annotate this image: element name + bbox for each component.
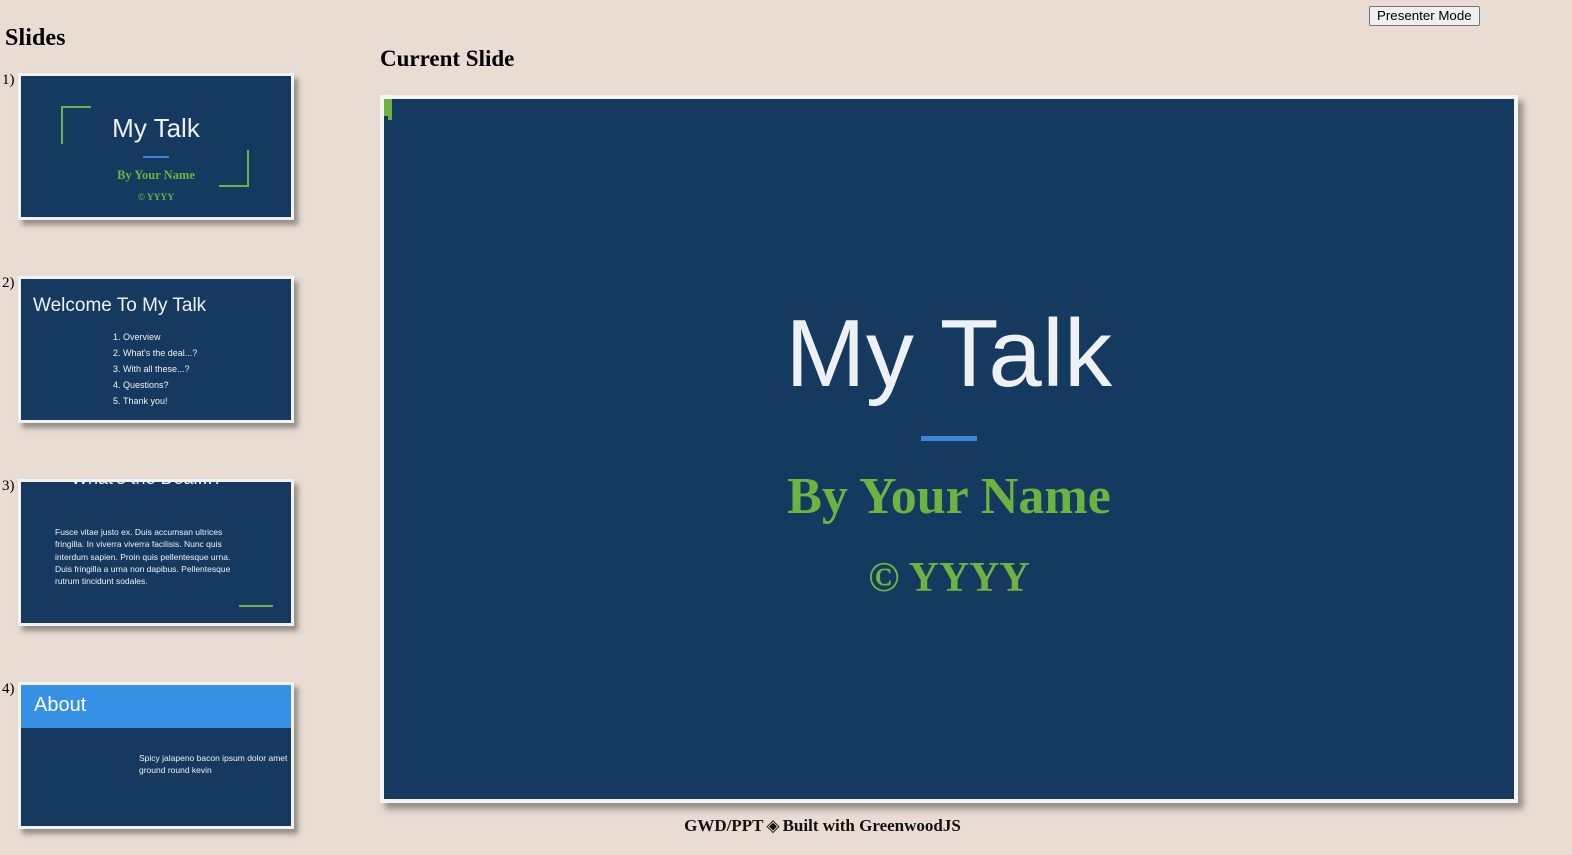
- current-slide-heading: Current Slide: [380, 46, 514, 72]
- slide-thumbnail-index: 4): [2, 681, 15, 698]
- slide-preview-agenda: Welcome To My Talk Overview What's the d…: [21, 279, 291, 420]
- slide-thumbnail-index: 3): [2, 478, 15, 495]
- agenda-item: Questions?: [123, 380, 197, 390]
- agenda-item: Thank you!: [123, 396, 197, 406]
- slide-thumbnail-frame[interactable]: About Spicy jalapeno bacon ipsum dolor a…: [18, 682, 294, 829]
- slide-thumbnail-frame[interactable]: What's the Deal...? Fusce vitae justo ex…: [18, 479, 294, 626]
- slide-thumbnail-4[interactable]: 4) About Spicy jalapeno bacon ipsum dolo…: [0, 672, 370, 855]
- slide-title: My Talk: [384, 304, 1514, 405]
- slide-title: About: [34, 694, 86, 717]
- current-slide-panel: Current Slide My Talk By Your Name © YYY…: [370, 0, 1572, 855]
- slide-surface: My Talk By Your Name © YYYY: [384, 99, 1514, 799]
- page-footer: GWD/PPT◈Built with GreenwoodJS: [370, 816, 1275, 836]
- corner-bracket-bottom-right-icon: [388, 99, 392, 120]
- agenda-list: Overview What's the deal...? With all th…: [107, 332, 197, 412]
- agenda-item: What's the deal...?: [123, 348, 197, 358]
- slide-body-text: Spicy jalapeno bacon ipsum dolor amet gr…: [139, 752, 289, 777]
- slide-copyright: © YYYY: [384, 554, 1514, 602]
- slide-thumbnail-list[interactable]: 1) My Talk By Your Name © YYYY 2) Welcom…: [0, 63, 370, 855]
- slide-thumbnail-index: 2): [2, 275, 15, 292]
- slide-preview-body: What's the Deal...? Fusce vitae justo ex…: [21, 482, 291, 623]
- slide-author: By Your Name: [21, 168, 291, 183]
- slides-heading: Slides: [5, 25, 66, 52]
- title-underline-rule: [921, 436, 977, 441]
- slide-thumbnail-3[interactable]: 3) What's the Deal...? Fusce vitae justo…: [0, 469, 370, 672]
- slide-body-text: Fusce vitae justo ex. Duis accumsan ultr…: [55, 526, 247, 588]
- slide-thumbnail-index: 1): [2, 72, 15, 89]
- footer-product-label: GWD/PPT: [684, 816, 763, 835]
- slide-preview-about: About Spicy jalapeno bacon ipsum dolor a…: [21, 685, 291, 826]
- current-slide-canvas[interactable]: My Talk By Your Name © YYYY: [380, 95, 1518, 803]
- diamond-icon: ◈: [764, 816, 783, 835]
- slide-thumbnail-2[interactable]: 2) Welcome To My Talk Overview What's th…: [0, 266, 370, 469]
- slide-thumbnail-frame[interactable]: My Talk By Your Name © YYYY: [18, 73, 294, 220]
- agenda-item: Overview: [123, 332, 197, 342]
- slide-title: Welcome To My Talk: [33, 295, 206, 317]
- slide-title: My Talk: [21, 113, 291, 144]
- slide-author: By Your Name: [384, 467, 1514, 526]
- slide-thumbnail-frame[interactable]: Welcome To My Talk Overview What's the d…: [18, 276, 294, 423]
- slide-thumbnail-1[interactable]: 1) My Talk By Your Name © YYYY: [0, 63, 370, 266]
- title-underline-rule: [143, 156, 169, 158]
- slides-sidebar: Slides 1) My Talk By Your Name © YYYY 2): [0, 0, 370, 855]
- footer-credit-label: Built with GreenwoodJS: [783, 816, 961, 835]
- accent-rule: [239, 605, 273, 607]
- slide-copyright: © YYYY: [21, 193, 291, 203]
- slide-preview-title: My Talk By Your Name © YYYY: [21, 76, 291, 217]
- slide-title: What's the Deal...?: [71, 482, 223, 489]
- agenda-item: With all these...?: [123, 364, 197, 374]
